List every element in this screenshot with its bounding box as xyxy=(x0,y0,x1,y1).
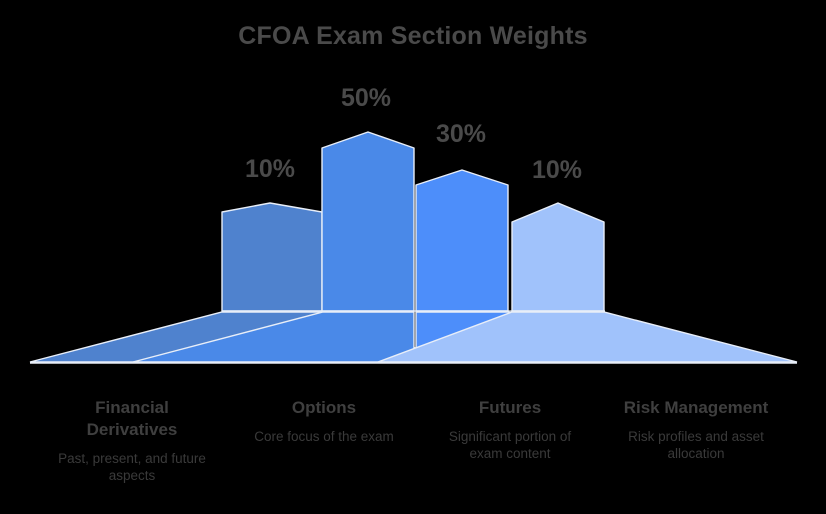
category-description-line: allocation xyxy=(591,445,801,463)
category-description-2: Significant portion ofexam content xyxy=(410,428,610,463)
category-name-line: Futures xyxy=(410,397,610,419)
category-description-1: Core focus of the exam xyxy=(224,428,424,446)
category-description-0: Past, present, and futureaspects xyxy=(32,450,232,485)
category-name-line: Financial xyxy=(32,397,232,419)
category-block-2: FuturesSignificant portion ofexam conten… xyxy=(410,397,610,463)
bar-2[interactable] xyxy=(416,170,508,311)
category-block-3: Risk ManagementRisk profiles and assetal… xyxy=(591,397,801,463)
bar-3[interactable] xyxy=(512,203,604,311)
category-description-line: exam content xyxy=(410,445,610,463)
category-description-line: Past, present, and future xyxy=(32,450,232,468)
bar-value-label-3: 10% xyxy=(497,156,617,185)
chart-container: CFOA Exam Section Weights 10%50%30%10% F… xyxy=(0,0,826,514)
category-description-line: Core focus of the exam xyxy=(224,428,424,446)
category-block-1: OptionsCore focus of the exam xyxy=(224,397,424,445)
category-name-3: Risk Management xyxy=(591,397,801,419)
category-name-line: Options xyxy=(224,397,424,419)
category-name-line: Risk Management xyxy=(591,397,801,419)
category-description-line: aspects xyxy=(32,467,232,485)
bar-1[interactable] xyxy=(322,132,414,311)
category-name-1: Options xyxy=(224,397,424,419)
bar-value-label-2: 30% xyxy=(401,120,521,149)
category-description-3: Risk profiles and assetallocation xyxy=(591,428,801,463)
category-name-2: Futures xyxy=(410,397,610,419)
category-description-line: Significant portion of xyxy=(410,428,610,446)
chart-floor-group xyxy=(30,312,797,362)
category-name-line: Derivatives xyxy=(32,419,232,441)
bar-0[interactable] xyxy=(222,203,322,311)
bar-value-label-1: 50% xyxy=(306,84,426,113)
category-name-0: FinancialDerivatives xyxy=(32,397,232,441)
category-description-line: Risk profiles and asset xyxy=(591,428,801,446)
bar-value-label-0: 10% xyxy=(210,155,330,184)
category-block-0: FinancialDerivativesPast, present, and f… xyxy=(32,397,232,485)
